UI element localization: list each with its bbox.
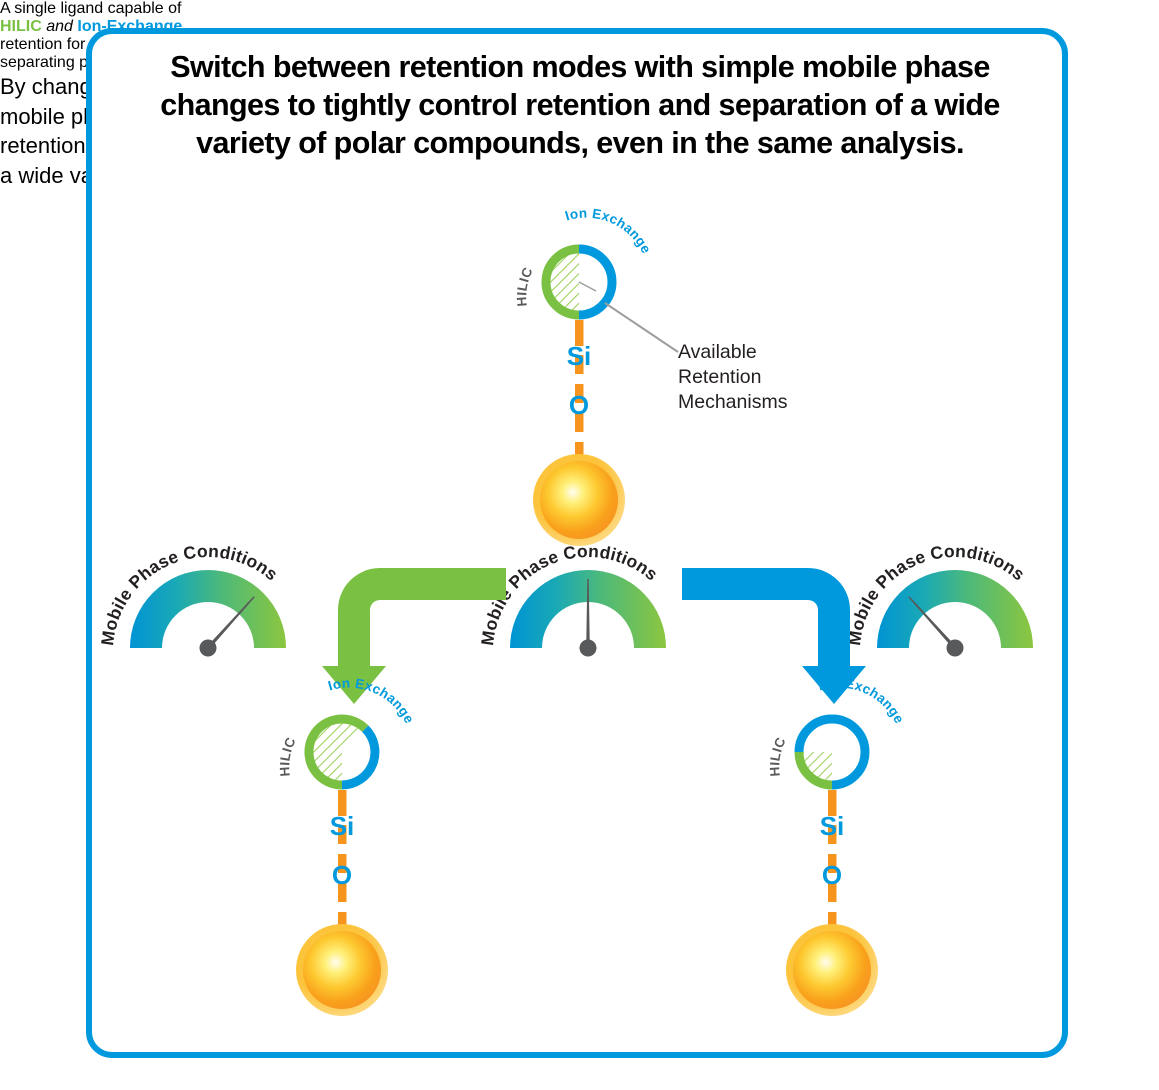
page-title: Switch between retention modes with simp… — [110, 48, 1050, 162]
silica-bead-top — [533, 454, 625, 546]
si-label-bl: Si — [330, 811, 355, 841]
gauge-left: Mobile Phase Conditions — [108, 548, 308, 660]
o-label-top: O — [569, 390, 589, 420]
o-label-bl: O — [332, 860, 352, 890]
and-connector: and — [46, 18, 73, 35]
silica-bead-bottom-right — [786, 924, 878, 1016]
svg-text:HILIC: HILIC — [767, 735, 789, 777]
svg-text:HILIC: HILIC — [514, 265, 536, 307]
retention-ring-bottom-left — [309, 719, 375, 785]
si-label-br: Si — [820, 811, 845, 841]
si-label-top: Si — [567, 341, 592, 371]
gauge-pivot-right — [947, 640, 964, 657]
left-para-line1: A single ligand capable of — [0, 0, 181, 17]
ligand-bottom-right: Si O HILIC Ion Exchange — [748, 708, 978, 1018]
gauge-pivot-center — [580, 640, 597, 657]
svg-text:HILIC: HILIC — [277, 735, 299, 777]
callout-leader-line — [600, 300, 690, 370]
ligand-bottom-left: Si O HILIC Ion Exchange — [258, 708, 488, 1018]
gauge-arc-right — [877, 570, 1033, 648]
ligand-top-center: Si O HILIC Ion Exchange — [495, 238, 725, 548]
retention-ring-bottom-right — [799, 719, 865, 785]
hilic-keyword: HILIC — [0, 18, 42, 35]
silica-bead-bottom-left — [296, 924, 388, 1016]
o-label-br: O — [822, 860, 842, 890]
gauge-arc-left — [130, 570, 286, 648]
gauge-right: Mobile Phase Conditions — [855, 548, 1055, 660]
gauge-pivot-left — [200, 640, 217, 657]
gauge-center: Mobile Phase Conditions — [488, 548, 688, 660]
